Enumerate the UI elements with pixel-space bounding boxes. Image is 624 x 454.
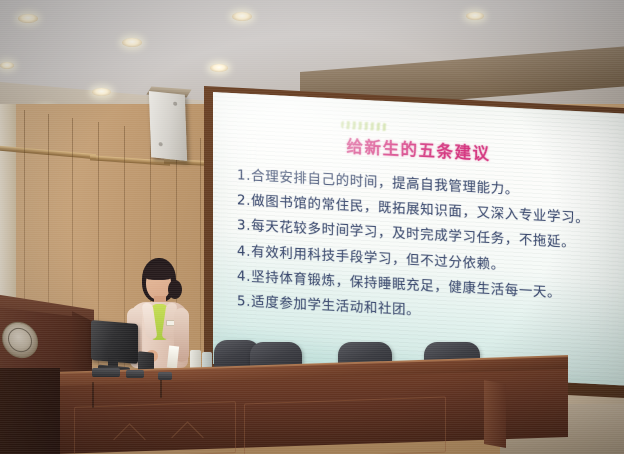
speaker-screw-icon [159,142,163,146]
downlight-icon [232,12,252,21]
downlight-icon [18,14,38,23]
wall-speaker-icon [149,91,187,161]
downlight-icon [0,62,14,69]
hair-bun [168,280,182,299]
cable [160,378,162,398]
slide-body: 1.合理安排自己的时间，提高自我管理能力。 2.做图书馆的常住民，既拓展知识面，… [237,163,624,335]
table-end-cap [484,380,506,448]
hair-fringe [143,264,174,280]
downlight-icon [122,38,142,47]
downlight-icon [92,88,111,96]
speaker-screw-icon [173,102,177,106]
desk-equipment [158,372,172,380]
table-panel-inset [244,396,446,454]
table-panel-inset [74,401,236,454]
desk-equipment [92,368,120,377]
lecture-hall-photo: 给新生的五条建议 1.合理安排自己的时间，提高自我管理能力。 2.做图书馆的常住… [0,0,624,454]
table-left-shadow [0,368,60,454]
green-mark-icon [341,121,387,131]
desk-equipment [126,370,144,378]
cable [92,382,94,408]
downlight-icon [210,64,228,72]
downlight-icon [466,12,484,20]
